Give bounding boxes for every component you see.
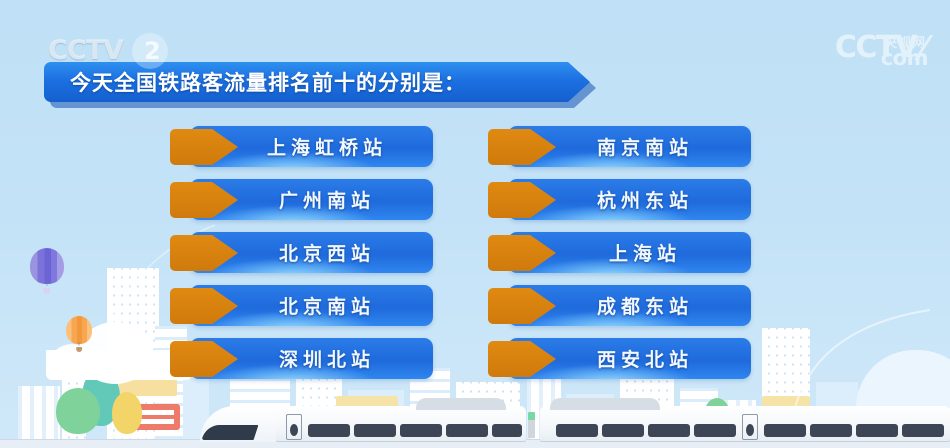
train-window [556,424,598,437]
station-item-10[interactable]: 西安北站 [488,338,751,379]
train-window [764,424,806,437]
station-column-right: 南京南站 杭州东站 上海站 成都东站 [488,126,780,379]
high-speed-train [0,402,950,448]
train-window [856,424,898,437]
page-title: 今天全国铁路客流量排名前十的分别是： [70,67,466,97]
train-door-1 [286,414,302,440]
train-window [602,424,644,437]
train-window [354,424,396,437]
train-window [492,424,522,437]
broadcast-screen: CCTV 2 CCTV/ 央视网 com 今天全国铁路客流量排名前十的分别是： … [0,0,950,448]
station-name: 西安北站 [592,345,693,372]
station-name: 北京南站 [274,292,375,319]
train-nose-windshield [202,425,259,440]
train-window [694,424,736,437]
station-item-2[interactable]: 南京南站 [488,126,751,167]
station-item-6[interactable]: 上海站 [488,232,751,273]
train-door-2 [742,414,758,440]
train-roof-hump-2 [550,398,660,410]
station-ranking-list: 上海虹桥站 广州南站 北京西站 北京南站 [0,126,950,379]
station-item-8[interactable]: 成都东站 [488,285,751,326]
station-name: 成都东站 [592,292,693,319]
station-name: 北京西站 [274,239,375,266]
station-name: 上海虹桥站 [262,133,387,160]
title-banner-body: 今天全国铁路客流量排名前十的分别是： [44,62,590,102]
station-name: 杭州东站 [592,186,693,213]
station-name: 上海站 [604,239,681,266]
station-item-9[interactable]: 深圳北站 [170,338,433,379]
station-name: 南京南站 [592,133,693,160]
station-item-1[interactable]: 上海虹桥站 [170,126,433,167]
train-window [400,424,442,437]
station-item-5[interactable]: 北京西站 [170,232,433,273]
train-window [902,424,944,437]
train-window [810,424,852,437]
station-name: 深圳北站 [274,345,375,372]
station-item-3[interactable]: 广州南站 [170,179,433,220]
train-roof-hump-1 [416,398,506,410]
train-window [648,424,690,437]
station-item-4[interactable]: 杭州东站 [488,179,751,220]
station-name: 广州南站 [274,186,375,213]
station-item-7[interactable]: 北京南站 [170,285,433,326]
train-window [308,424,350,437]
platform-post [528,412,535,438]
train-window [446,424,488,437]
station-column-left: 上海虹桥站 广州南站 北京西站 北京南站 [170,126,462,379]
